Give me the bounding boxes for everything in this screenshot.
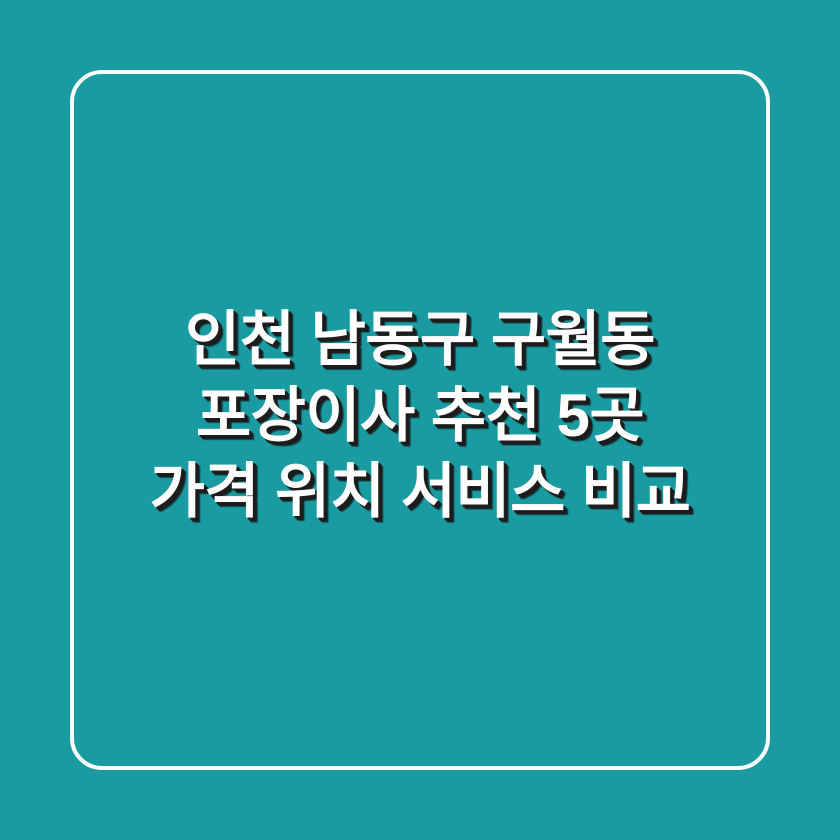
title-line-1: 인천 남동구 구월동 (0, 302, 840, 378)
title-block: 인천 남동구 구월동 포장이사 추천 5곳 가격 위치 서비스 비교 (0, 302, 840, 530)
title-line-3: 가격 위치 서비스 비교 (0, 454, 840, 530)
title-line-2: 포장이사 추천 5곳 (0, 378, 840, 454)
thumbnail-card: 인천 남동구 구월동 포장이사 추천 5곳 가격 위치 서비스 비교 (0, 0, 840, 840)
